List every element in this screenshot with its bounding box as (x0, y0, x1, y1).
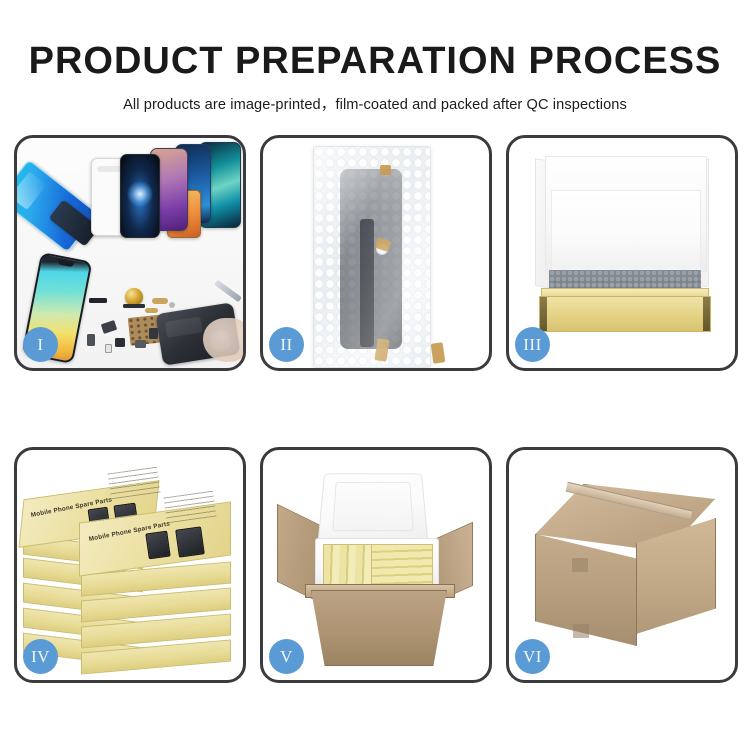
spare-part-icon (105, 344, 112, 353)
spare-part-icon (135, 340, 146, 348)
foam-lid-icon (318, 473, 429, 542)
flex-cable-icon (145, 308, 158, 313)
printed-screen-image-icon (175, 526, 205, 557)
step-badge-2: II (269, 327, 304, 362)
process-step-panel-2[interactable]: II (260, 135, 492, 371)
spare-part-icon (149, 328, 158, 339)
printed-screen-image-icon (145, 531, 170, 560)
carton-seam-icon (573, 624, 589, 638)
bubble-wrap-bag-icon (313, 146, 431, 368)
spare-part-icon (101, 320, 117, 334)
spare-part-icon (123, 304, 145, 308)
step-badge-3: III (515, 327, 550, 362)
flex-cable-icon (152, 298, 168, 304)
spare-part-icon (87, 334, 95, 346)
spare-part-icon (115, 338, 125, 347)
tweezers-icon (214, 280, 242, 302)
page-header: PRODUCT PREPARATION PROCESS All products… (0, 0, 750, 114)
tape-icon (431, 342, 446, 363)
step-badge-6: VI (515, 639, 550, 674)
page-title: PRODUCT PREPARATION PROCESS (0, 42, 750, 82)
tape-icon (374, 338, 389, 362)
spare-part-icon (89, 298, 107, 303)
carton-body-icon (311, 590, 447, 666)
spare-part-icon (169, 302, 175, 308)
flex-cable-icon (360, 219, 374, 347)
page-subtitle: All products are image-printed，film-coat… (0, 93, 750, 114)
black-phone-screen-icon (120, 154, 160, 238)
process-step-panel-3[interactable]: III (506, 135, 738, 371)
process-step-panel-6[interactable]: VI (506, 447, 738, 683)
process-step-panel-4[interactable]: Mobile Phone Spare Parts Mobile Phone Sp… (14, 447, 246, 683)
process-step-panel-1[interactable]: I (14, 135, 246, 371)
process-step-panel-5[interactable]: V (260, 447, 492, 683)
step-badge-5: V (269, 639, 304, 674)
kraft-box-front-icon (539, 296, 711, 332)
product-preparation-page: PRODUCT PREPARATION PROCESS All products… (0, 0, 750, 750)
inner-yellow-boxes-icon (371, 544, 433, 586)
step-badge-1: I (23, 327, 58, 362)
process-steps-grid: I II (14, 135, 738, 685)
carton-seam-icon (572, 558, 588, 572)
step-badge-4: IV (23, 639, 58, 674)
white-foam-sheet-icon (551, 190, 701, 272)
tape-icon (380, 165, 391, 175)
